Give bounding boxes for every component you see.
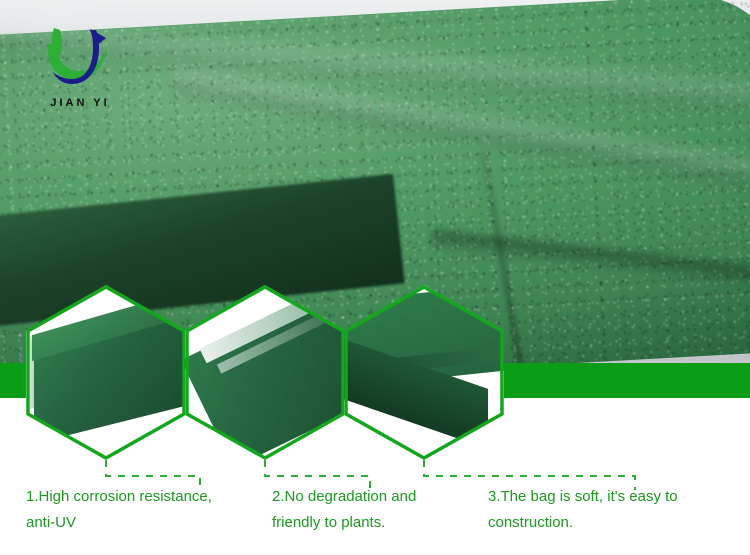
feature-caption-3: 3.The bag is soft, it's easy to construc…: [488, 484, 733, 536]
feature-caption-2: 2.No degradation and friendly to plants.: [272, 484, 487, 536]
product-banner: JIAN YI: [0, 0, 750, 555]
connector-dashes-svg: [0, 430, 750, 490]
caption-connector-lines: [0, 430, 750, 490]
brand-name: JIAN YI: [32, 97, 128, 109]
jianyi-leaf-j-logo-icon: [32, 18, 128, 98]
brand-logo: JIAN YI: [32, 18, 128, 104]
feature-caption-1: 1.High corrosion resistance, anti-UV: [26, 484, 276, 536]
